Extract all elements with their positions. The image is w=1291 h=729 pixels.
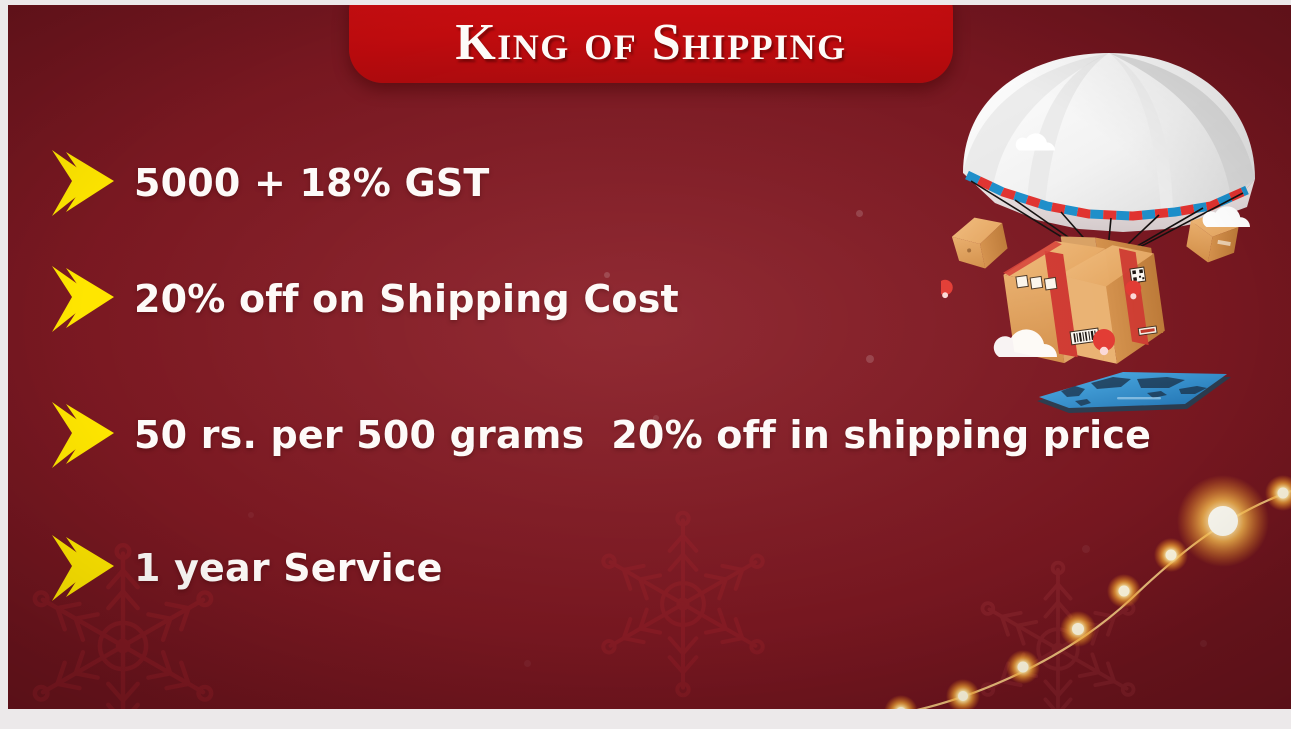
feature-list: 5000 + 18% GST 20% off on Shipping Cost bbox=[46, 135, 1236, 633]
bokeh-dot bbox=[524, 660, 531, 667]
list-item: 5000 + 18% GST bbox=[46, 135, 1236, 231]
banner-canvas: King of Shipping 5000 + 18% GST bbox=[8, 5, 1291, 709]
double-chevron-icon bbox=[46, 146, 120, 220]
list-item-label: 5000 + 18% GST bbox=[134, 161, 490, 205]
list-item-label: 20% off on Shipping Cost bbox=[134, 277, 679, 321]
promotional-banner: King of Shipping 5000 + 18% GST bbox=[0, 0, 1291, 729]
double-chevron-icon bbox=[46, 262, 120, 336]
double-chevron-icon bbox=[46, 398, 120, 472]
list-item-label: 1 year Service bbox=[134, 546, 443, 590]
title-badge: King of Shipping bbox=[349, 5, 953, 83]
list-item: 50 rs. per 500 grams 20% off in shipping… bbox=[46, 367, 1236, 503]
double-chevron-icon bbox=[46, 531, 120, 605]
page-title: King of Shipping bbox=[455, 17, 846, 83]
list-item: 1 year Service bbox=[46, 503, 1236, 633]
list-item-label: 50 rs. per 500 grams 20% off in shipping… bbox=[134, 413, 1151, 457]
list-item: 20% off on Shipping Cost bbox=[46, 231, 1236, 367]
